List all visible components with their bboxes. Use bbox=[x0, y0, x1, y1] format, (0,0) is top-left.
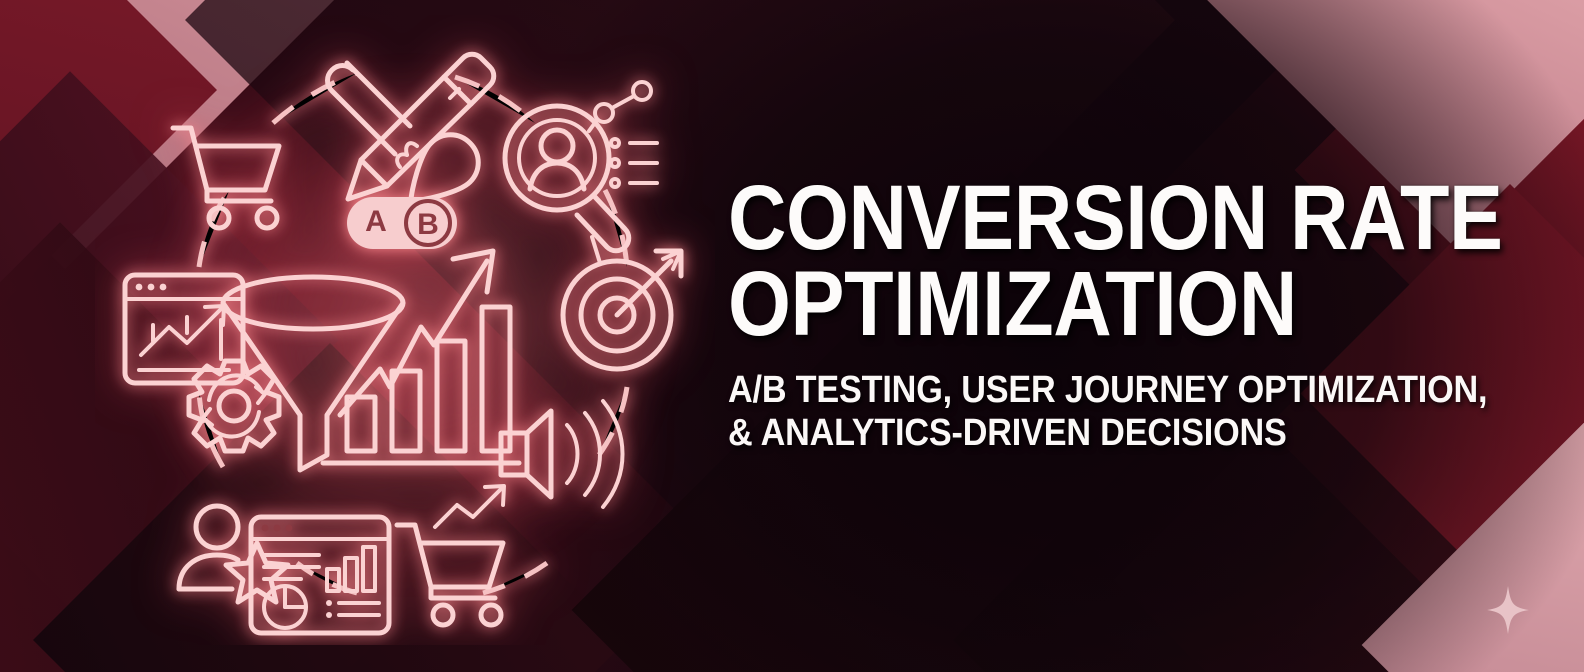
subtitle: A/B TESTING, USER JOURNEY OPTIMIZATION, … bbox=[728, 369, 1528, 454]
cart-growth-icon bbox=[397, 486, 504, 625]
growth-arrow-icon bbox=[340, 251, 493, 415]
pencil-brush-icon bbox=[328, 54, 494, 201]
banner-root: A B bbox=[0, 0, 1584, 672]
subtitle-line-1: A/B TESTING, USER JOURNEY OPTIMIZATION, bbox=[728, 369, 1448, 412]
shopping-cart-icon bbox=[173, 128, 279, 228]
user-search-icon bbox=[505, 82, 657, 251]
megaphone-icon bbox=[501, 401, 623, 507]
text-block: CONVERSION RATE OPTIMIZATION A/B TESTING… bbox=[728, 176, 1528, 454]
ab-option-a: A bbox=[365, 205, 387, 238]
subtitle-line-2: & ANALYTICS-DRIVEN DECISIONS bbox=[728, 412, 1448, 455]
bar-3 bbox=[437, 341, 465, 451]
bar-2 bbox=[392, 371, 420, 451]
ab-option-b: B bbox=[417, 208, 439, 241]
bar-4 bbox=[482, 307, 510, 451]
sparkle-icon bbox=[1487, 586, 1529, 634]
headline-line-2: OPTIMIZATION bbox=[728, 262, 1432, 348]
ab-toggle-pill: A B bbox=[347, 197, 457, 249]
target-arrow-icon bbox=[563, 237, 681, 369]
neon-illustration: A B bbox=[95, 15, 715, 645]
headline-line-1: CONVERSION RATE bbox=[728, 176, 1432, 262]
